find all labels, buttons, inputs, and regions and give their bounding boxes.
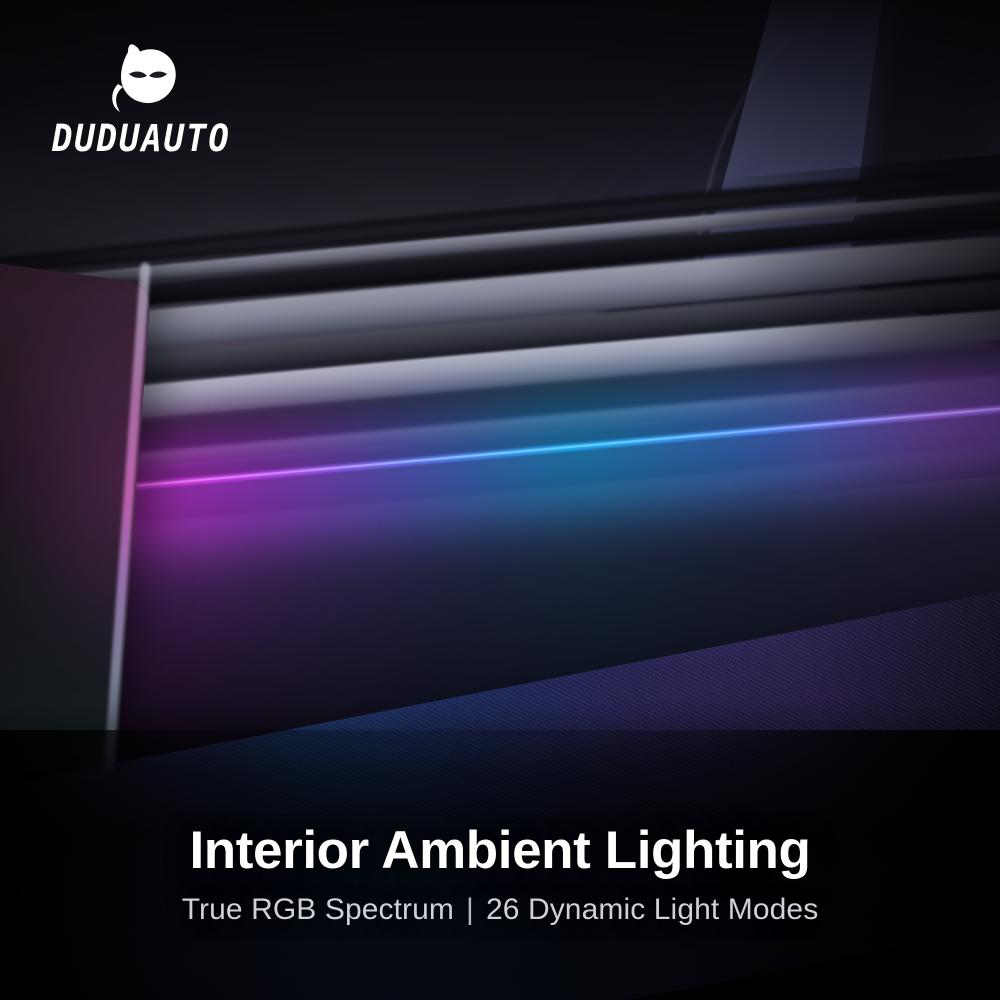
subtitle-right-text: 26 Dynamic Light Modes (486, 893, 818, 926)
subtitle-separator: | (454, 892, 486, 928)
page-subtitle: True RGB Spectrum|26 Dynamic Light Modes (40, 892, 960, 928)
caption-block: Interior Ambient Lighting True RGB Spect… (0, 823, 1000, 928)
panther-head-icon (104, 38, 190, 118)
brand-logo[interactable]: DUDUAUTO (52, 38, 312, 157)
page-title: Interior Ambient Lighting (40, 823, 960, 878)
subtitle-left-text: True RGB Spectrum (182, 893, 454, 926)
product-poster: DUDUAUTO Interior Ambient Lighting True … (0, 0, 1000, 1000)
brand-wordmark: DUDUAUTO (52, 120, 291, 157)
